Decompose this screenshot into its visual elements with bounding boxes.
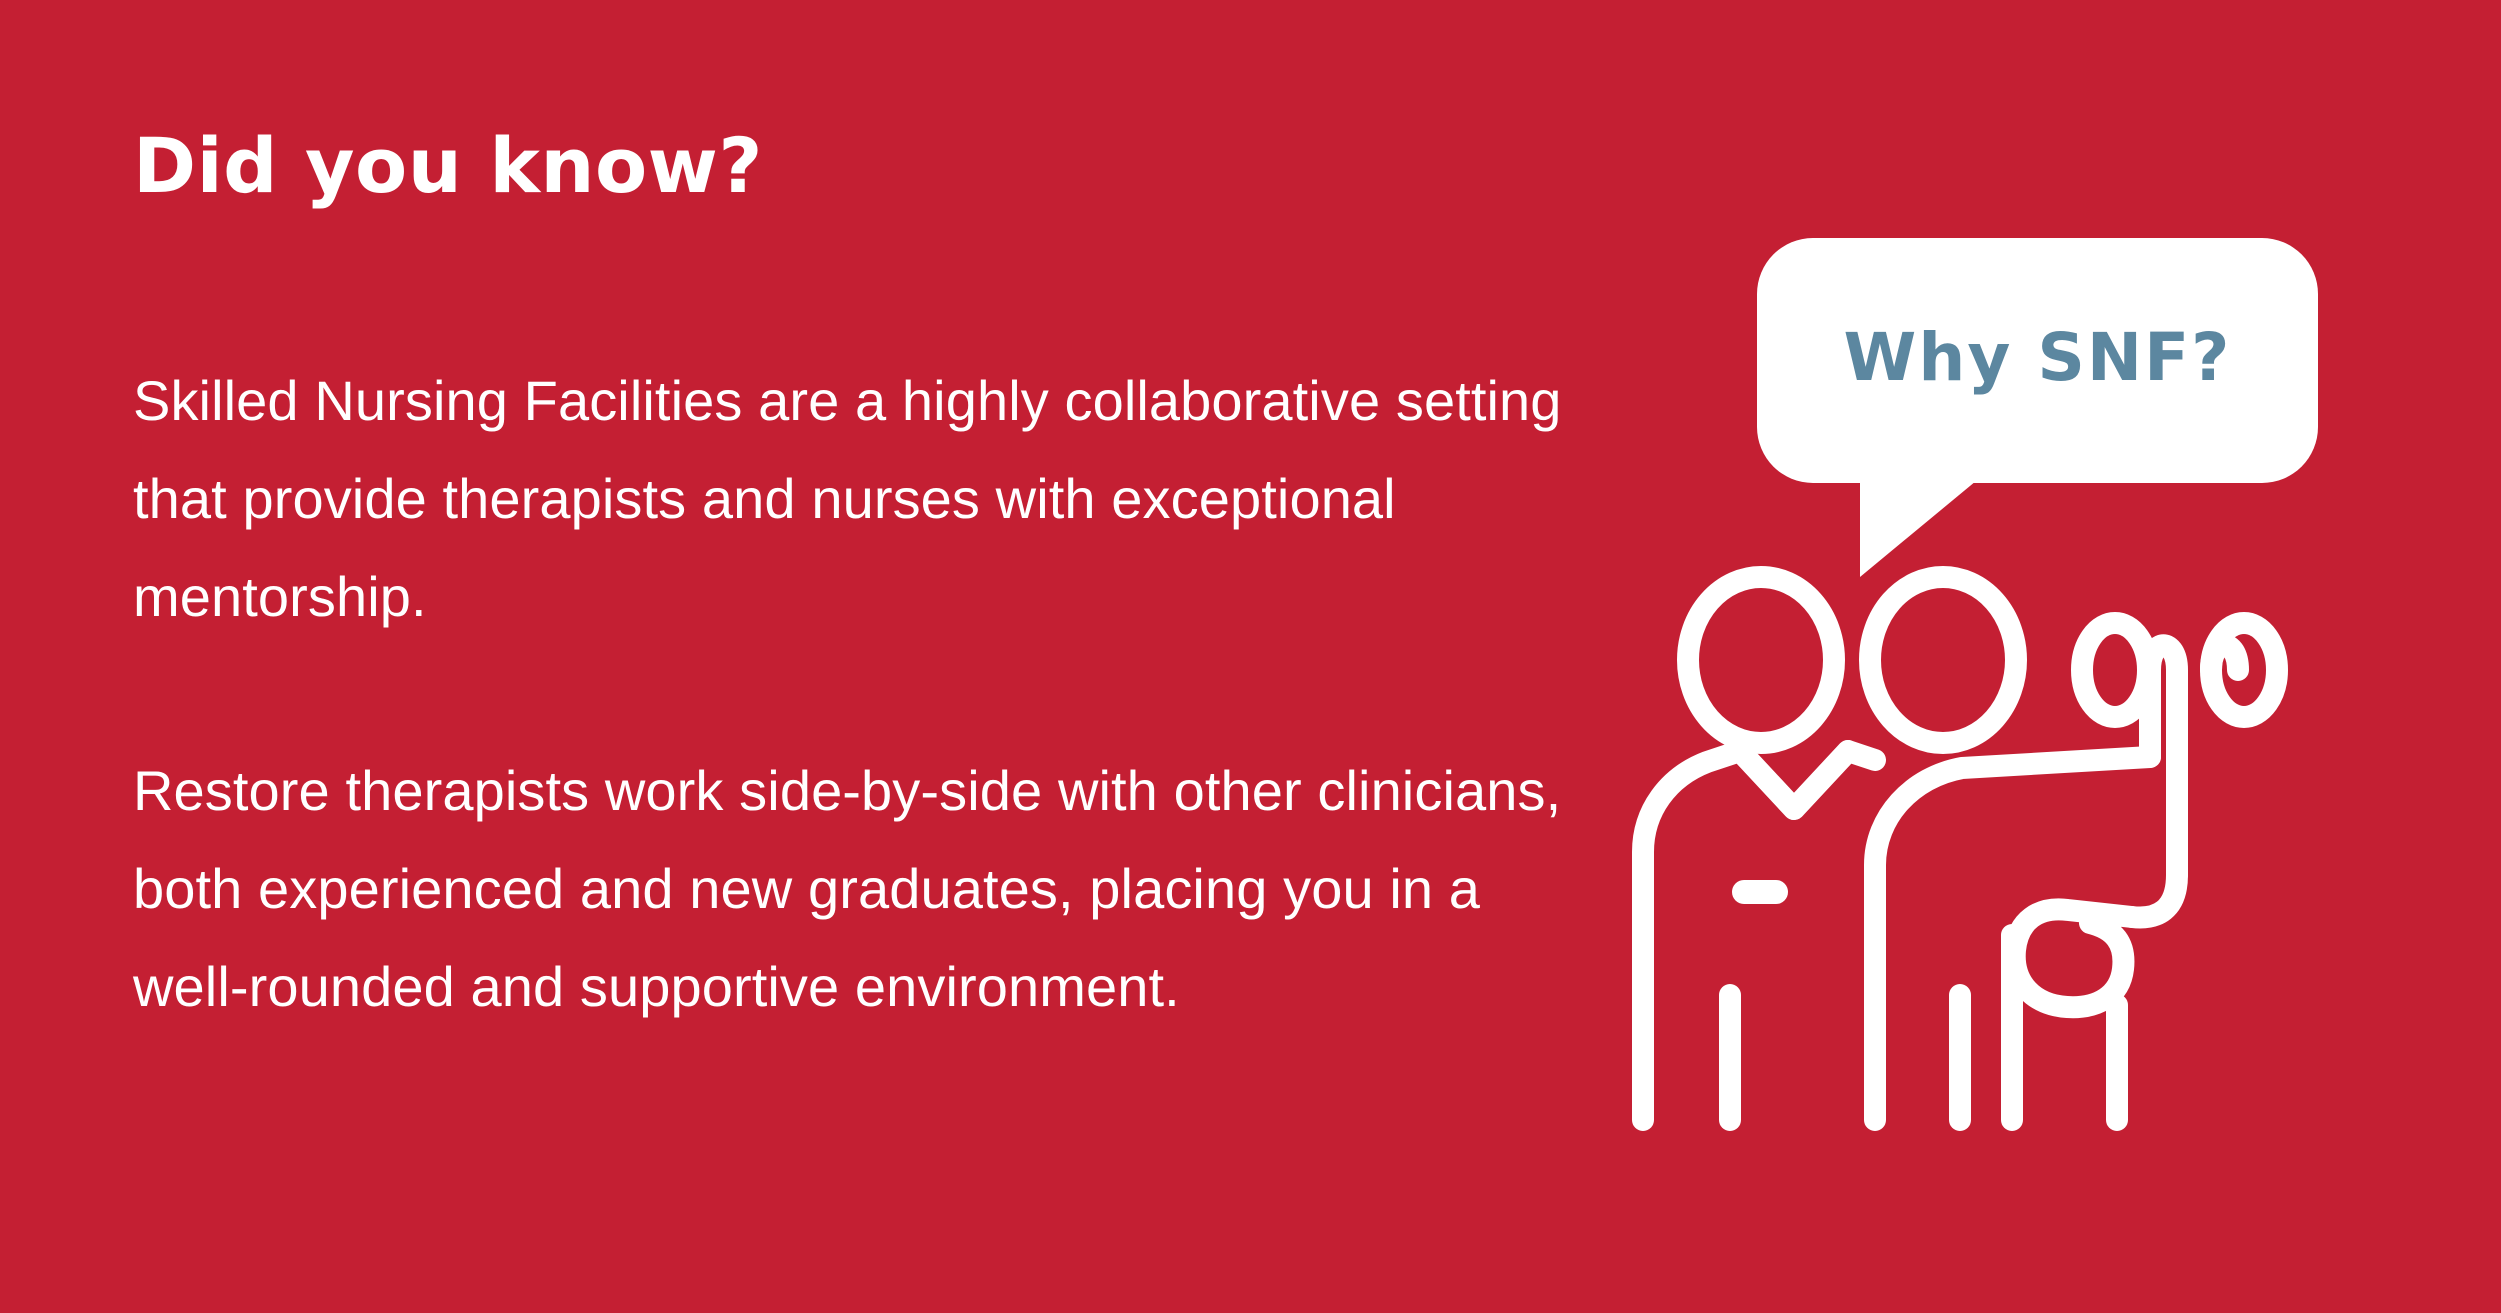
- dumbbell-bar: [2211, 645, 2238, 670]
- page-title: Did you know?: [133, 126, 763, 206]
- text-column: Did you know? Skilled Nursing Facilities…: [133, 0, 1653, 1313]
- lower-hand: [2015, 909, 2132, 1007]
- left-person-collar: [1740, 751, 1848, 809]
- speech-bubble: Why SNF?: [1757, 238, 2318, 483]
- body-paragraph-1: Skilled Nursing Facilities are a highly …: [133, 352, 1643, 646]
- left-person-head: [1688, 577, 1834, 743]
- slide-canvas: Did you know? Skilled Nursing Facilities…: [0, 0, 2501, 1313]
- speech-bubble-label: Why SNF?: [1757, 238, 2318, 483]
- dumbbell-plate-left: [2082, 623, 2148, 717]
- right-person-head: [1870, 577, 2016, 743]
- left-person-body: [1643, 751, 1875, 1120]
- speech-bubble-tail: [1860, 481, 1976, 577]
- two-people-with-dumbbell-icon: [1620, 565, 2380, 1135]
- body-paragraph-2: Restore therapists work side-by-side wit…: [133, 742, 1603, 1036]
- illustration-group: Why SNF?: [1620, 210, 2380, 1150]
